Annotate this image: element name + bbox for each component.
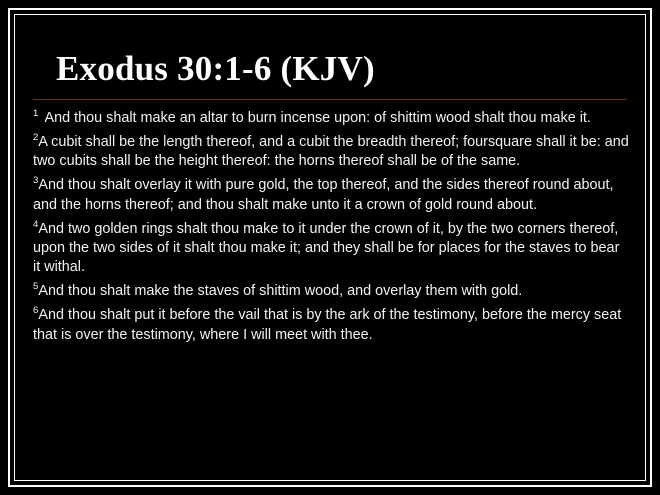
verse-text: And thou shalt put it before the vail th… [33, 307, 621, 342]
slide-content: Exodus 30:1-6 (KJV) 1 And thou shalt mak… [15, 15, 645, 480]
title-block: Exodus 30:1-6 (KJV) [15, 15, 645, 86]
presentation-slide: Exodus 30:1-6 (KJV) 1 And thou shalt mak… [0, 0, 660, 495]
verse-paragraph: 2A cubit shall be the length thereof, an… [33, 133, 629, 171]
verse-paragraph: 4And two golden rings shalt thou make to… [33, 220, 629, 277]
verse-number: 1 [33, 108, 38, 119]
verse-paragraph: 1 And thou shalt make an altar to burn i… [33, 109, 629, 128]
verse-list: 1 And thou shalt make an altar to burn i… [15, 100, 645, 345]
page-title: Exodus 30:1-6 (KJV) [56, 51, 645, 86]
verse-paragraph: 6And thou shalt put it before the vail t… [33, 306, 629, 344]
verse-text: And thou shalt make an altar to burn inc… [41, 110, 591, 126]
verse-text: And thou shalt make the staves of shitti… [38, 283, 522, 299]
verse-text: And thou shalt overlay it with pure gold… [33, 177, 614, 212]
verse-text: And two golden rings shalt thou make to … [33, 221, 619, 275]
verse-text: A cubit shall be the length thereof, and… [33, 134, 629, 169]
verse-paragraph: 3And thou shalt overlay it with pure gol… [33, 176, 629, 214]
verse-paragraph: 5And thou shalt make the staves of shitt… [33, 282, 629, 301]
